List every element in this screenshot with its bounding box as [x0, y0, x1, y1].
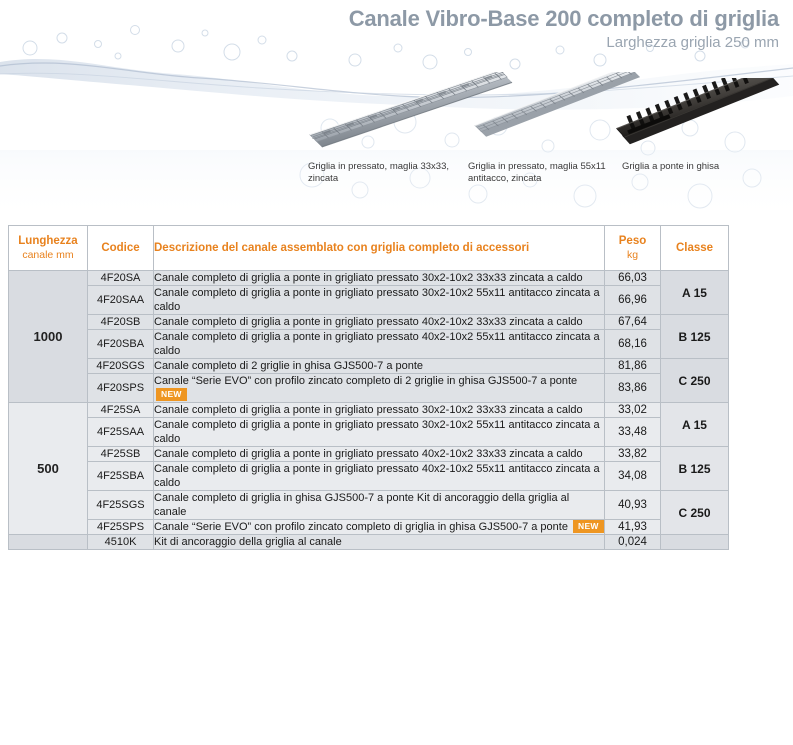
- cell-description: Canale “Serie EVO” con profilo zincato c…: [154, 520, 605, 535]
- cell-code: 4F20SAA: [88, 286, 154, 315]
- col-header-weight: Peso kg: [605, 226, 661, 271]
- table-row: 4510KKit di ancoraggio della griglia al …: [9, 535, 729, 550]
- col-header-description: Descrizione del canale assemblato con gr…: [154, 226, 605, 271]
- cell-class: B 125: [661, 447, 729, 491]
- cell-description: Canale completo di griglia a ponte in gr…: [154, 403, 605, 418]
- cell-description: Canale completo di griglia a ponte in gr…: [154, 315, 605, 330]
- caption-grate-2: Griglia in pressato, maglia 55x11 antita…: [468, 161, 618, 185]
- cell-weight: 41,93: [605, 520, 661, 535]
- caption-grate-1: Griglia in pressato, maglia 33x33, zinca…: [308, 161, 458, 185]
- cell-code: 4F25SAA: [88, 418, 154, 447]
- col-header-weight-sub: kg: [605, 248, 660, 262]
- cell-code: 4F20SA: [88, 271, 154, 286]
- cell-class: A 15: [661, 403, 729, 447]
- description-text: Canale completo di griglia a ponte in gr…: [154, 419, 600, 445]
- cell-length: 500: [9, 403, 88, 535]
- col-header-weight-main: Peso: [619, 235, 647, 247]
- table-row: 4F25SGSCanale completo di griglia in ghi…: [9, 491, 729, 520]
- description-text: Canale completo di griglia a ponte in gr…: [154, 448, 583, 460]
- cast-iron-bridge-grate-image: [612, 78, 792, 156]
- cell-class: A 15: [661, 271, 729, 315]
- table-row: 4F25SBACanale completo di griglia a pont…: [9, 462, 729, 491]
- cell-description: Canale completo di griglia a ponte in gr…: [154, 462, 605, 491]
- table-row: 4F20SAACanale completo di griglia a pont…: [9, 286, 729, 315]
- page-subtitle: Larghezza griglia 250 mm: [606, 34, 779, 51]
- cell-class: C 250: [661, 491, 729, 535]
- col-header-code: Codice: [88, 226, 154, 271]
- cell-description: Kit di ancoraggio della griglia al canal…: [154, 535, 605, 550]
- table-row: 4F20SGSCanale completo di 2 griglie in g…: [9, 359, 729, 374]
- cell-description: Canale completo di griglia a ponte in gr…: [154, 447, 605, 462]
- cell-length: [9, 535, 88, 550]
- table-row: 5004F25SACanale completo di griglia a po…: [9, 403, 729, 418]
- cell-description: Canale completo di griglia a ponte in gr…: [154, 418, 605, 447]
- table-row: 4F25SBCanale completo di griglia a ponte…: [9, 447, 729, 462]
- page-title: Canale Vibro-Base 200 completo di grigli…: [349, 6, 779, 32]
- cell-class: [661, 535, 729, 550]
- description-text: Canale “Serie EVO” con profilo zincato c…: [154, 521, 571, 533]
- description-text: Canale completo di griglia in ghisa GJS5…: [154, 492, 569, 518]
- cell-code: 4510K: [88, 535, 154, 550]
- caption-grate-3: Griglia a ponte in ghisa: [622, 161, 782, 173]
- cell-code: 4F25SB: [88, 447, 154, 462]
- description-text: Canale completo di griglia a ponte in gr…: [154, 463, 600, 489]
- cell-weight: 83,86: [605, 374, 661, 403]
- specs-table: Lunghezza canale mm Codice Descrizione d…: [8, 225, 729, 550]
- table-row: 10004F20SACanale completo di griglia a p…: [9, 271, 729, 286]
- table-header: Lunghezza canale mm Codice Descrizione d…: [9, 226, 729, 271]
- description-text: Canale completo di griglia a ponte in gr…: [154, 331, 600, 357]
- table-row: 4F20SBCanale completo di griglia a ponte…: [9, 315, 729, 330]
- description-text: Canale completo di griglia a ponte in gr…: [154, 287, 600, 313]
- col-header-length: Lunghezza canale mm: [9, 226, 88, 271]
- cell-code: 4F25SA: [88, 403, 154, 418]
- cell-description: Canale completo di griglia a ponte in gr…: [154, 271, 605, 286]
- cell-code: 4F25SGS: [88, 491, 154, 520]
- cell-weight: 33,02: [605, 403, 661, 418]
- new-badge: NEW: [573, 520, 604, 533]
- table-row: 4F20SBACanale completo di griglia a pont…: [9, 330, 729, 359]
- cell-code: 4F25SPS: [88, 520, 154, 535]
- cell-description: Canale completo di griglia a ponte in gr…: [154, 330, 605, 359]
- cell-class: B 125: [661, 315, 729, 359]
- table-row: 4F25SPSCanale “Serie EVO” con profilo zi…: [9, 520, 729, 535]
- cell-description: Canale completo di griglia a ponte in gr…: [154, 286, 605, 315]
- cell-description: Canale “Serie EVO” con profilo zincato c…: [154, 374, 605, 403]
- cell-code: 4F25SBA: [88, 462, 154, 491]
- specs-table-wrapper: Lunghezza canale mm Codice Descrizione d…: [8, 225, 723, 550]
- cell-weight: 81,86: [605, 359, 661, 374]
- cell-code: 4F20SBA: [88, 330, 154, 359]
- table-body: 10004F20SACanale completo di griglia a p…: [9, 271, 729, 550]
- description-text: Canale completo di 2 griglie in ghisa GJ…: [154, 360, 423, 372]
- col-header-length-main: Lunghezza: [18, 235, 77, 247]
- cell-weight: 0,024: [605, 535, 661, 550]
- description-text: Canale completo di griglia a ponte in gr…: [154, 404, 583, 416]
- cell-weight: 33,48: [605, 418, 661, 447]
- new-badge: NEW: [156, 388, 187, 401]
- cell-length: 1000: [9, 271, 88, 403]
- cell-class: C 250: [661, 359, 729, 403]
- cell-description: Canale completo di 2 griglie in ghisa GJ…: [154, 359, 605, 374]
- header-row: Lunghezza canale mm Codice Descrizione d…: [9, 226, 729, 271]
- cell-weight: 66,03: [605, 271, 661, 286]
- cell-weight: 40,93: [605, 491, 661, 520]
- description-text: Kit di ancoraggio della griglia al canal…: [154, 536, 342, 548]
- description-text: Canale completo di griglia a ponte in gr…: [154, 316, 583, 328]
- cell-code: 4F20SGS: [88, 359, 154, 374]
- col-header-class: Classe: [661, 226, 729, 271]
- cell-code: 4F20SPS: [88, 374, 154, 403]
- col-header-length-sub: canale mm: [9, 248, 87, 262]
- cell-weight: 67,64: [605, 315, 661, 330]
- cell-weight: 34,08: [605, 462, 661, 491]
- cell-code: 4F20SB: [88, 315, 154, 330]
- description-text: Canale completo di griglia a ponte in gr…: [154, 272, 583, 284]
- cell-weight: 66,96: [605, 286, 661, 315]
- table-row: 4F25SAACanale completo di griglia a pont…: [9, 418, 729, 447]
- table-row: 4F20SPSCanale “Serie EVO” con profilo zi…: [9, 374, 729, 403]
- cell-weight: 68,16: [605, 330, 661, 359]
- cell-weight: 33,82: [605, 447, 661, 462]
- hero-banner: Canale Vibro-Base 200 completo di grigli…: [0, 0, 793, 222]
- description-text: Canale “Serie EVO” con profilo zincato c…: [154, 375, 577, 387]
- cell-description: Canale completo di griglia in ghisa GJS5…: [154, 491, 605, 520]
